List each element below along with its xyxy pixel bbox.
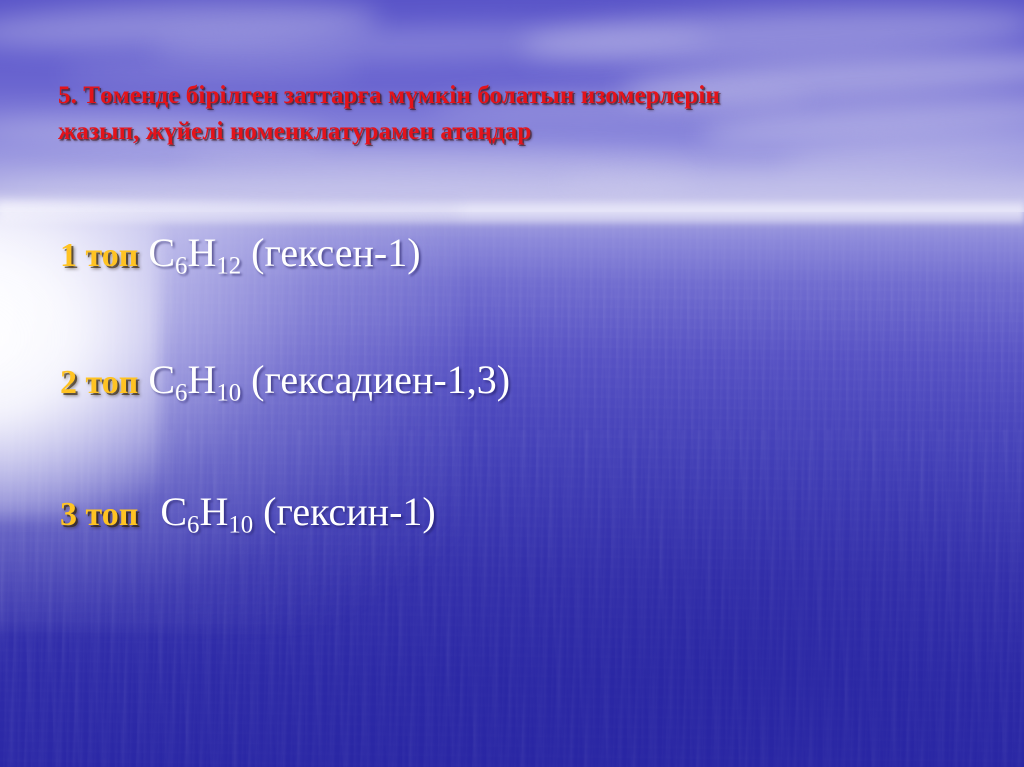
element-symbol: H — [199, 489, 228, 534]
subscript-count: 12 — [216, 252, 241, 279]
answer-line: 3 топC6H10(гексин-1) — [60, 488, 436, 539]
group-label: 1 топ — [60, 237, 138, 274]
element-symbol: C — [148, 357, 175, 402]
element-symbol: C — [160, 489, 187, 534]
answer-line: 1 топC6H12(гексен-1) — [60, 229, 421, 280]
subscript-count: 6 — [175, 379, 187, 406]
answer-line: 2 топC6H10(гексадиен-1,3) — [60, 356, 510, 407]
element-symbol: H — [187, 230, 216, 275]
compound-name: (гексин-1) — [263, 489, 436, 534]
compound-name: (гексадиен-1,3) — [251, 357, 510, 402]
compound-name: (гексен-1) — [251, 230, 420, 275]
slide-title: 5. Төменде бірілген заттарға мүмкін бола… — [58, 78, 758, 150]
group-label: 2 топ — [60, 364, 138, 401]
chemical-formula: C6H12 — [148, 230, 241, 275]
element-symbol: H — [187, 357, 216, 402]
subscript-count: 10 — [228, 511, 253, 538]
subscript-count: 10 — [216, 379, 241, 406]
subscript-count: 6 — [187, 511, 199, 538]
element-symbol: C — [148, 230, 175, 275]
subscript-count: 6 — [175, 252, 187, 279]
presentation-slide: 5. Төменде бірілген заттарға мүмкін бола… — [0, 0, 1024, 767]
group-label: 3 топ — [60, 496, 138, 533]
chemical-formula: C6H10 — [148, 357, 241, 402]
chemical-formula: C6H10 — [160, 489, 253, 534]
